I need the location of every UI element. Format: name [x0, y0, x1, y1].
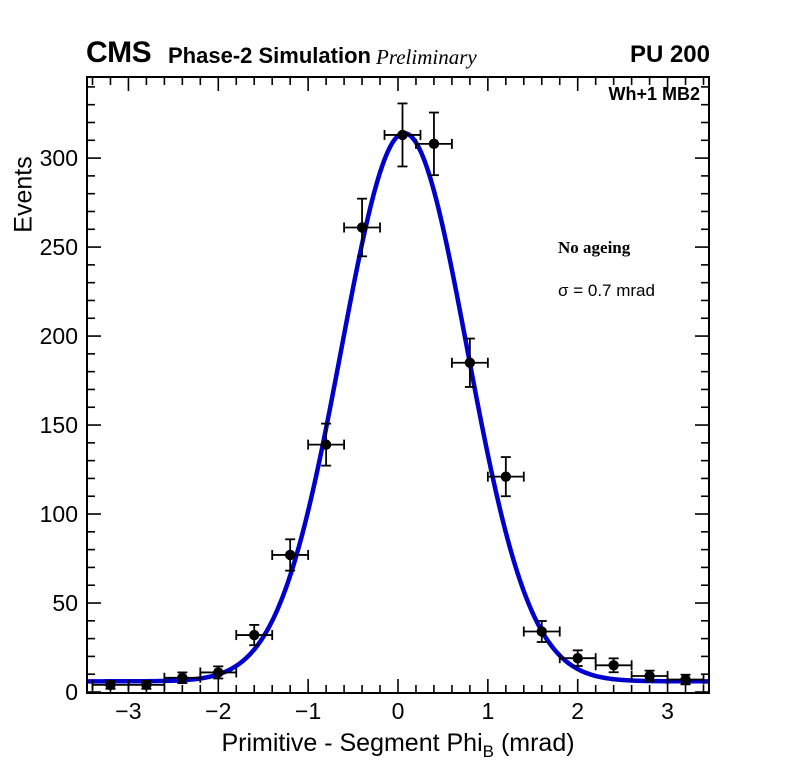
data-point [385, 103, 421, 166]
x-tick-label: 0 [368, 700, 428, 723]
data-point [596, 658, 632, 672]
y-tick-label: 50 [52, 592, 78, 615]
x-axis-tick-labels: −3−2−10123 [86, 700, 710, 730]
data-point [272, 539, 308, 570]
data-point [488, 457, 524, 496]
data-point [524, 621, 560, 642]
x-axis-title: Primitive - Segment PhiB (mrad) [86, 729, 710, 762]
x-tick-label: −3 [98, 700, 158, 723]
x-tick-label: 1 [458, 700, 518, 723]
resolution-label: σ = 0.7 mrad [558, 281, 655, 301]
x-axis-title-unit: (mrad) [501, 729, 575, 757]
simulation-label: Phase-2 Simulation [168, 44, 371, 68]
y-tick-label: 250 [40, 236, 78, 259]
data-point [308, 424, 344, 466]
data-points [92, 103, 703, 690]
x-axis-title-main: Primitive - Segment Phi [221, 729, 482, 757]
ageing-label: No ageing [558, 238, 630, 258]
y-tick-label: 100 [40, 503, 78, 526]
x-axis-title-subscript: B [483, 742, 494, 761]
x-tick-label: −2 [188, 700, 248, 723]
plot-area [88, 78, 708, 692]
data-point [344, 199, 380, 257]
cms-logo: CMS [86, 38, 151, 68]
axis-ticks [88, 78, 708, 692]
cms-header: CMS Phase-2 Simulation Preliminary PU 20… [86, 40, 710, 72]
fit-curve [88, 133, 708, 681]
x-tick-label: 2 [548, 700, 608, 723]
y-axis-tick-labels: 050100150200250300 [0, 76, 78, 694]
x-tick-label: 3 [638, 700, 698, 723]
y-tick-label: 200 [40, 325, 78, 348]
y-tick-label: 150 [40, 414, 78, 437]
plot-canvas: CMS Phase-2 Simulation Preliminary PU 20… [0, 0, 796, 772]
y-tick-label: 300 [40, 147, 78, 170]
pileup-label: PU 200 [630, 42, 710, 68]
plot-frame: Wh+1 MB2 No ageing σ = 0.7 mrad [86, 76, 710, 694]
x-tick-label: −1 [278, 700, 338, 723]
chamber-label: Wh+1 MB2 [608, 84, 700, 105]
preliminary-label: Preliminary [376, 45, 477, 69]
y-tick-label: 0 [65, 681, 78, 704]
data-point [560, 650, 596, 666]
data-point [452, 339, 488, 387]
data-point [416, 113, 452, 176]
